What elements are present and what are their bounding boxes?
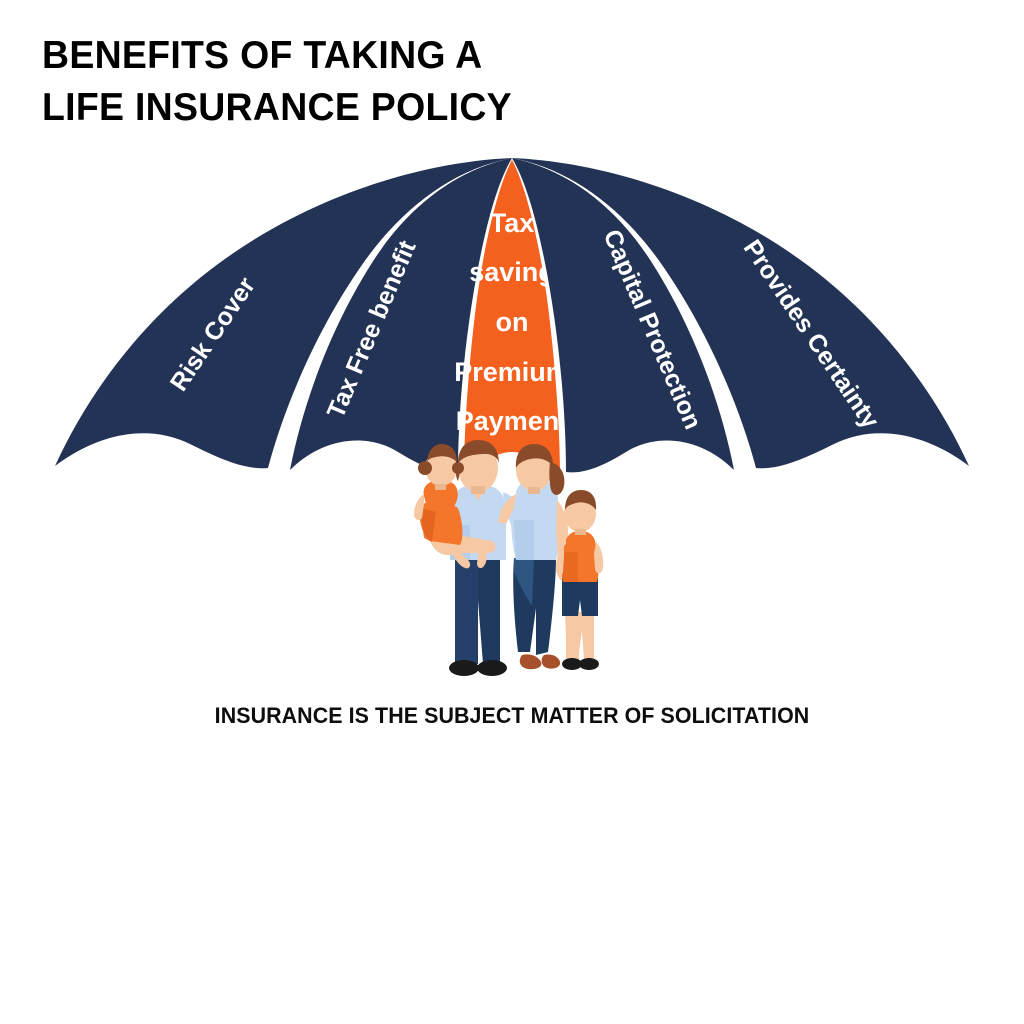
svg-text:saving: saving: [469, 257, 555, 287]
title-line-1: BENEFITS OF TAKING A: [42, 30, 714, 82]
svg-text:Tax: Tax: [490, 208, 535, 238]
page-title: BENEFITS OF TAKING A LIFE INSURANCE POLI…: [42, 30, 742, 134]
figure-boy-child: [556, 490, 603, 670]
title-line-2: LIFE INSURANCE POLICY: [42, 82, 714, 134]
svg-text:Premium: Premium: [454, 357, 570, 387]
infographic-canvas: BENEFITS OF TAKING A LIFE INSURANCE POLI…: [0, 0, 1024, 1024]
figure-mother: [498, 444, 568, 669]
svg-text:Payment: Payment: [456, 406, 569, 436]
footer-caption: INSURANCE IS THE SUBJECT MATTER OF SOLIC…: [26, 703, 999, 729]
figure-father: [437, 440, 548, 676]
umbrella-graphic: Risk Cover Tax Free benefit Tax saving o…: [0, 0, 1024, 1024]
family-illustration: [414, 440, 603, 676]
svg-text:on: on: [496, 307, 529, 337]
